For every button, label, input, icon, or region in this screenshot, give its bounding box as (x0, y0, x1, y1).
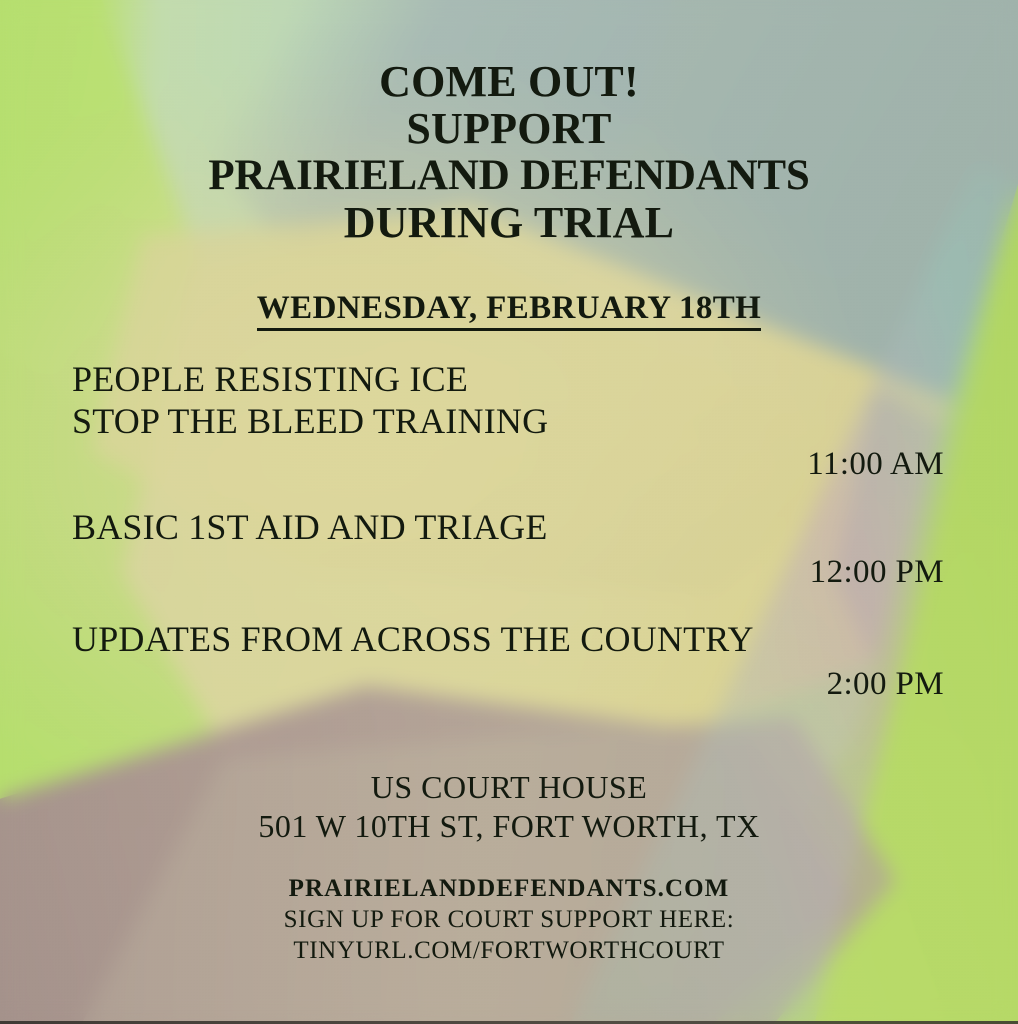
footer-block: PRAIRIELANDDEFENDANTS.COM SIGN UP FOR CO… (0, 874, 1018, 966)
headline-block: COME OUT! SUPPORT PRAIRIELAND DEFENDANTS… (0, 58, 1018, 246)
schedule-item-time: 11:00 AM (72, 444, 944, 484)
signup-label: SIGN UP FOR COURT SUPPORT HERE: (0, 904, 1018, 935)
venue-address: 501 W 10TH ST, FORT WORTH, TX (0, 807, 1018, 846)
poster-flyer: COME OUT! SUPPORT PRAIRIELAND DEFENDANTS… (0, 0, 1018, 1024)
event-date-text: WEDNESDAY, FEBRUARY 18TH (257, 290, 761, 331)
schedule-list: PEOPLE RESISTING ICE STOP THE BLEED TRAI… (72, 358, 944, 726)
website-url[interactable]: PRAIRIELANDDEFENDANTS.COM (0, 874, 1018, 904)
schedule-item-time: 12:00 PM (72, 552, 944, 592)
schedule-item: UPDATES FROM ACROSS THE COUNTRY 2:00 PM (72, 618, 944, 704)
venue-name: US COURT HOUSE (0, 768, 1018, 807)
headline-line-1: COME OUT! (0, 58, 1018, 105)
event-date: WEDNESDAY, FEBRUARY 18TH (0, 290, 1018, 327)
signup-short-link[interactable]: TINYURL.COM/FORTWORTHCOURT (0, 935, 1018, 966)
headline-line-2: SUPPORT (0, 105, 1018, 152)
schedule-item: BASIC 1ST AID AND TRIAGE 12:00 PM (72, 506, 944, 592)
venue-block: US COURT HOUSE 501 W 10TH ST, FORT WORTH… (0, 768, 1018, 846)
headline-line-4: DURING TRIAL (0, 199, 1018, 246)
schedule-item: PEOPLE RESISTING ICE STOP THE BLEED TRAI… (72, 358, 944, 484)
schedule-item-title: BASIC 1ST AID AND TRIAGE (72, 506, 944, 548)
poster-content: COME OUT! SUPPORT PRAIRIELAND DEFENDANTS… (0, 0, 1018, 1024)
schedule-item-time: 2:00 PM (72, 664, 944, 704)
headline-line-3: PRAIRIELAND DEFENDANTS (0, 152, 1018, 199)
schedule-item-title: PEOPLE RESISTING ICE STOP THE BLEED TRAI… (72, 358, 944, 442)
schedule-item-title: UPDATES FROM ACROSS THE COUNTRY (72, 618, 944, 660)
